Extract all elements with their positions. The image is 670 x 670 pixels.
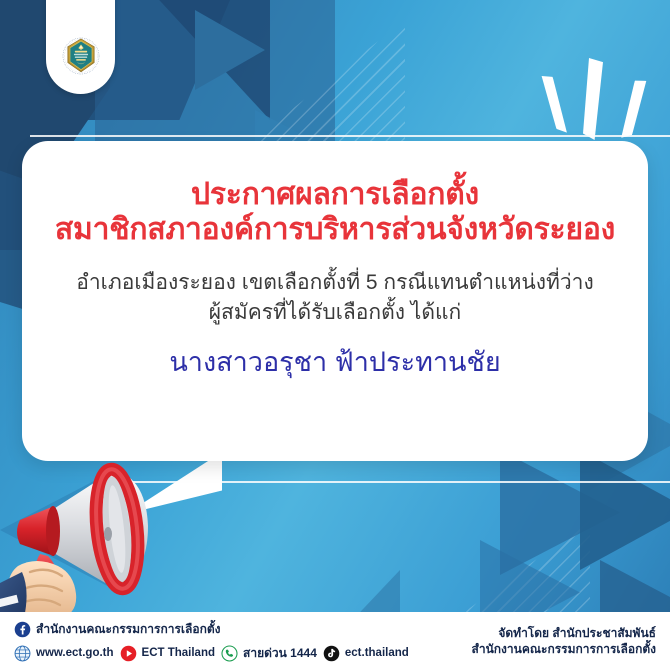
footer-hotline[interactable]: สายด่วน 1444 — [221, 644, 317, 663]
ect-logo-badge — [46, 0, 115, 94]
footer-website-label: www.ect.go.th — [36, 647, 114, 659]
globe-icon[interactable] — [14, 645, 31, 662]
announcement-body: อำเภอเมืองระยอง เขตเลือกตั้งที่ 5 กรณีแท… — [76, 268, 593, 329]
megaphone-icon — [0, 448, 228, 623]
footer-credit: จัดทำโดย สำนักประชาสัมพันธ์ สำนักงานคณะก… — [472, 625, 656, 657]
body-line-1: อำเภอเมืองระยอง เขตเลือกตั้งที่ 5 กรณีแท… — [76, 268, 593, 298]
credit-line-1: จัดทำโดย สำนักประชาสัมพันธ์ — [472, 625, 656, 641]
facebook-icon[interactable] — [14, 621, 31, 638]
title-line-1: ประกาศผลการเลือกตั้ง — [191, 178, 479, 211]
poster-root: ประกาศผลการเลือกตั้ง สมาชิกสภาองค์การบริ… — [0, 0, 670, 670]
tiktok-icon[interactable] — [323, 645, 340, 662]
footer-tiktok[interactable]: ect.thailand — [323, 645, 409, 662]
footer-bar: สำนักงานคณะกรรมการการเลือกตั้ง www.ect.g… — [0, 612, 670, 670]
footer-facebook[interactable]: สำนักงานคณะกรรมการการเลือกตั้ง — [14, 620, 220, 639]
ect-emblem-icon — [59, 34, 103, 78]
footer-row-facebook: สำนักงานคณะกรรมการการเลือกตั้ง — [14, 620, 409, 639]
credit-line-2: สำนักงานคณะกรรมการการเลือกตั้ง — [472, 641, 656, 657]
footer-website[interactable]: www.ect.go.th — [14, 645, 114, 662]
footer-facebook-label: สำนักงานคณะกรรมการการเลือกตั้ง — [36, 620, 220, 639]
winner-name: นางสาวอรุชา ฟ้าประทานชัย — [169, 345, 500, 380]
youtube-icon[interactable] — [120, 645, 137, 662]
phone-icon[interactable] — [221, 645, 238, 662]
divider-rule-top — [30, 135, 670, 137]
footer-row-links: www.ect.go.th ECT Thailand สายด่วน 1444 — [14, 644, 409, 663]
footer-tiktok-label: ect.thailand — [345, 647, 409, 659]
title-line-2: สมาชิกสภาองค์การบริหารส่วนจังหวัดระยอง — [55, 212, 615, 247]
announcement-card: ประกาศผลการเลือกตั้ง สมาชิกสภาองค์การบริ… — [22, 141, 648, 461]
footer-hotline-label: สายด่วน 1444 — [243, 644, 317, 663]
footer-contacts: สำนักงานคณะกรรมการการเลือกตั้ง www.ect.g… — [14, 620, 409, 663]
announcement-title: ประกาศผลการเลือกตั้ง สมาชิกสภาองค์การบริ… — [55, 177, 615, 248]
footer-youtube[interactable]: ECT Thailand — [120, 645, 215, 662]
footer-youtube-label: ECT Thailand — [142, 647, 215, 659]
body-line-2: ผู้สมัครที่ได้รับเลือกตั้ง ได้แก่ — [76, 298, 593, 328]
